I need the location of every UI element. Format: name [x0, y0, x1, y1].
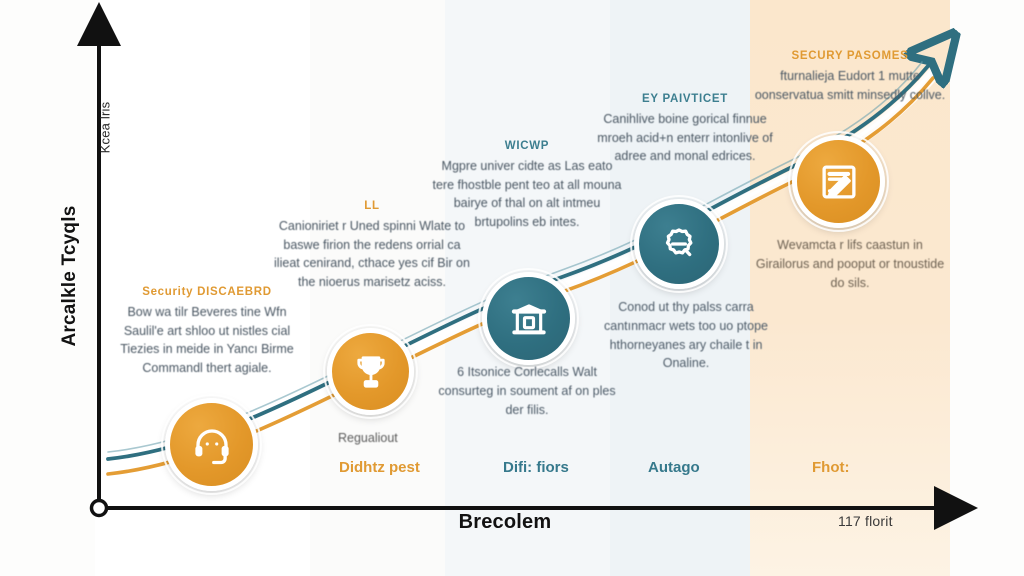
callout-5: SECURY PASOMES fturnalieja Eudort 1 mutt…	[752, 50, 948, 104]
headset-support-icon	[191, 424, 233, 466]
stage-node-2[interactable]	[327, 328, 414, 415]
stage-label-1: Didhtz pest	[339, 459, 420, 476]
stage-node-3[interactable]	[482, 272, 575, 365]
stage-node-4[interactable]	[634, 199, 724, 289]
callout-1: Security DISCAEBRD Bow wa tilr Beveres t…	[112, 286, 302, 377]
bank-institution-icon	[509, 299, 549, 339]
stage-node-5[interactable]	[792, 135, 885, 228]
stage-node-1[interactable]	[165, 398, 258, 491]
stage-label-2: Difi: fiors	[503, 459, 569, 476]
document-edit-icon	[818, 161, 860, 203]
stage-label-4: Fhot:	[812, 459, 849, 476]
x-axis-title: Brecolem	[385, 511, 625, 534]
callout-4: EY PAIVTICET Canihlive boine gorical fin…	[592, 93, 778, 166]
callout-5-heading: SECURY PASOMES	[752, 50, 948, 62]
callout-3-body: Mgpre univer cidte as Las eato tere fhos…	[432, 157, 622, 231]
x-axis-end-label: 117 florit	[838, 513, 893, 529]
gear-settings-icon	[659, 224, 699, 264]
minor-label-1: Regualiout	[338, 431, 398, 445]
trophy-award-icon	[352, 353, 390, 391]
subtext-b: Conod ut thy palss carra cantınmacr wets…	[596, 298, 776, 373]
chart-canvas: Arcalkle Tcyqls Kcea lris Brecolem 117 f…	[0, 0, 1024, 576]
y-axis-title: Arcalkle Tcyqls	[59, 166, 81, 386]
y-axis-subtitle: Kcea lris	[98, 63, 113, 193]
callout-4-body: Canihlive boine gorical finnue mroeh aci…	[592, 110, 778, 166]
callout-5-body: fturnalieja Eudort 1 mutte oonservatua s…	[752, 67, 948, 104]
callout-4-heading: EY PAIVTICET	[592, 93, 778, 105]
stage-label-3: Autago	[648, 459, 700, 476]
subtext-c: Wevamcta r lifs caastun in Girailorus an…	[754, 236, 946, 292]
subtext-a: 6 Itsonice Corlecalls Walt consurteg in …	[432, 363, 622, 419]
callout-1-body: Bow wa tilr Beveres tine Wfn Saulil'e ar…	[112, 303, 302, 377]
